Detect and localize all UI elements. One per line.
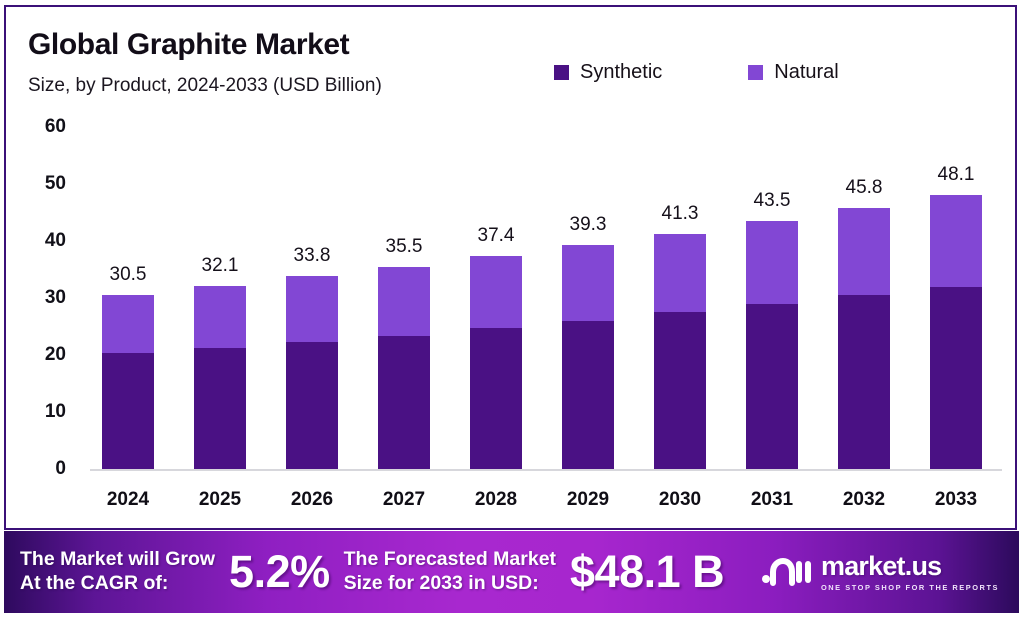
x-axis-label-2030: 2030 [632, 489, 728, 511]
bar-segment-natural-2027[interactable] [378, 267, 430, 336]
bar-value-label-2033: 48.1 [908, 164, 1004, 186]
forecast-caption: The Forecasted Market Size for 2033 in U… [344, 548, 556, 596]
bar-segment-synthetic-2029[interactable] [562, 321, 614, 469]
bar-segment-synthetic-2031[interactable] [746, 304, 798, 469]
brand-logo[interactable]: market.us ONE STOP SHOP FOR THE REPORTS [761, 553, 999, 592]
chart-card: Global Graphite Market Size, by Product,… [4, 5, 1017, 530]
bar-value-label-2030: 41.3 [632, 203, 728, 225]
bar-segment-synthetic-2030[interactable] [654, 312, 706, 469]
cagr-value: 5.2% [229, 546, 330, 598]
bar-segment-synthetic-2027[interactable] [378, 336, 430, 469]
infographic-canvas: Global Graphite Market Size, by Product,… [0, 0, 1023, 621]
bar-value-label-2032: 45.8 [816, 177, 912, 199]
forecast-caption-line1: The Forecasted Market [344, 548, 556, 572]
forecast-value: $48.1 B [570, 546, 724, 598]
bar-2025[interactable] [194, 286, 246, 469]
bar-2028[interactable] [470, 256, 522, 469]
bar-2033[interactable] [930, 195, 982, 469]
bar-2024[interactable] [102, 295, 154, 469]
bar-2027[interactable] [378, 267, 430, 469]
bar-segment-synthetic-2026[interactable] [286, 342, 338, 469]
bar-segment-natural-2031[interactable] [746, 221, 798, 304]
logo-text-block: market.us ONE STOP SHOP FOR THE REPORTS [821, 553, 999, 591]
bar-segment-natural-2032[interactable] [838, 208, 890, 295]
bar-segment-synthetic-2033[interactable] [930, 287, 982, 469]
bar-series-container: 30.5202432.1202533.8202635.5202737.42028… [6, 7, 1019, 532]
cagr-caption: The Market will Grow At the CAGR of: [20, 548, 215, 596]
bar-value-label-2027: 35.5 [356, 236, 452, 258]
x-axis-label-2027: 2027 [356, 489, 452, 511]
bar-value-label-2029: 39.3 [540, 214, 636, 236]
bar-segment-natural-2025[interactable] [194, 286, 246, 348]
bar-2029[interactable] [562, 245, 614, 469]
bar-value-label-2028: 37.4 [448, 225, 544, 247]
x-axis-label-2033: 2033 [908, 489, 1004, 511]
plot-area: 0102030405060 30.5202432.1202533.8202635… [6, 7, 1019, 532]
bar-segment-synthetic-2025[interactable] [194, 348, 246, 469]
x-axis-label-2026: 2026 [264, 489, 360, 511]
bar-2031[interactable] [746, 221, 798, 469]
bar-value-label-2024: 30.5 [80, 264, 176, 286]
summary-banner: The Market will Grow At the CAGR of: 5.2… [4, 531, 1019, 613]
bar-value-label-2031: 43.5 [724, 190, 820, 212]
cagr-caption-line2: At the CAGR of: [20, 572, 215, 596]
forecast-caption-line2: Size for 2033 in USD: [344, 572, 556, 596]
bar-value-label-2026: 33.8 [264, 245, 360, 267]
x-axis-label-2031: 2031 [724, 489, 820, 511]
x-axis-label-2025: 2025 [172, 489, 268, 511]
bar-segment-natural-2030[interactable] [654, 234, 706, 312]
bar-segment-natural-2033[interactable] [930, 195, 982, 287]
cagr-caption-line1: The Market will Grow [20, 548, 215, 572]
bar-segment-synthetic-2024[interactable] [102, 353, 154, 469]
bar-segment-natural-2024[interactable] [102, 295, 154, 353]
market-us-logo-icon [761, 553, 811, 592]
cagr-stat: The Market will Grow At the CAGR of: 5.2… [20, 546, 330, 598]
bar-segment-natural-2026[interactable] [286, 276, 338, 342]
x-axis-label-2032: 2032 [816, 489, 912, 511]
x-axis-label-2029: 2029 [540, 489, 636, 511]
bar-2032[interactable] [838, 208, 890, 469]
logo-tagline: ONE STOP SHOP FOR THE REPORTS [821, 584, 999, 591]
bar-value-label-2025: 32.1 [172, 255, 268, 277]
bar-segment-synthetic-2028[interactable] [470, 328, 522, 469]
bar-segment-synthetic-2032[interactable] [838, 295, 890, 469]
x-axis-label-2024: 2024 [80, 489, 176, 511]
x-axis-label-2028: 2028 [448, 489, 544, 511]
bar-segment-natural-2029[interactable] [562, 245, 614, 321]
bar-2030[interactable] [654, 234, 706, 469]
bar-2026[interactable] [286, 276, 338, 469]
logo-name: market.us [821, 553, 999, 580]
bar-segment-natural-2028[interactable] [470, 256, 522, 328]
forecast-stat: The Forecasted Market Size for 2033 in U… [344, 546, 725, 598]
